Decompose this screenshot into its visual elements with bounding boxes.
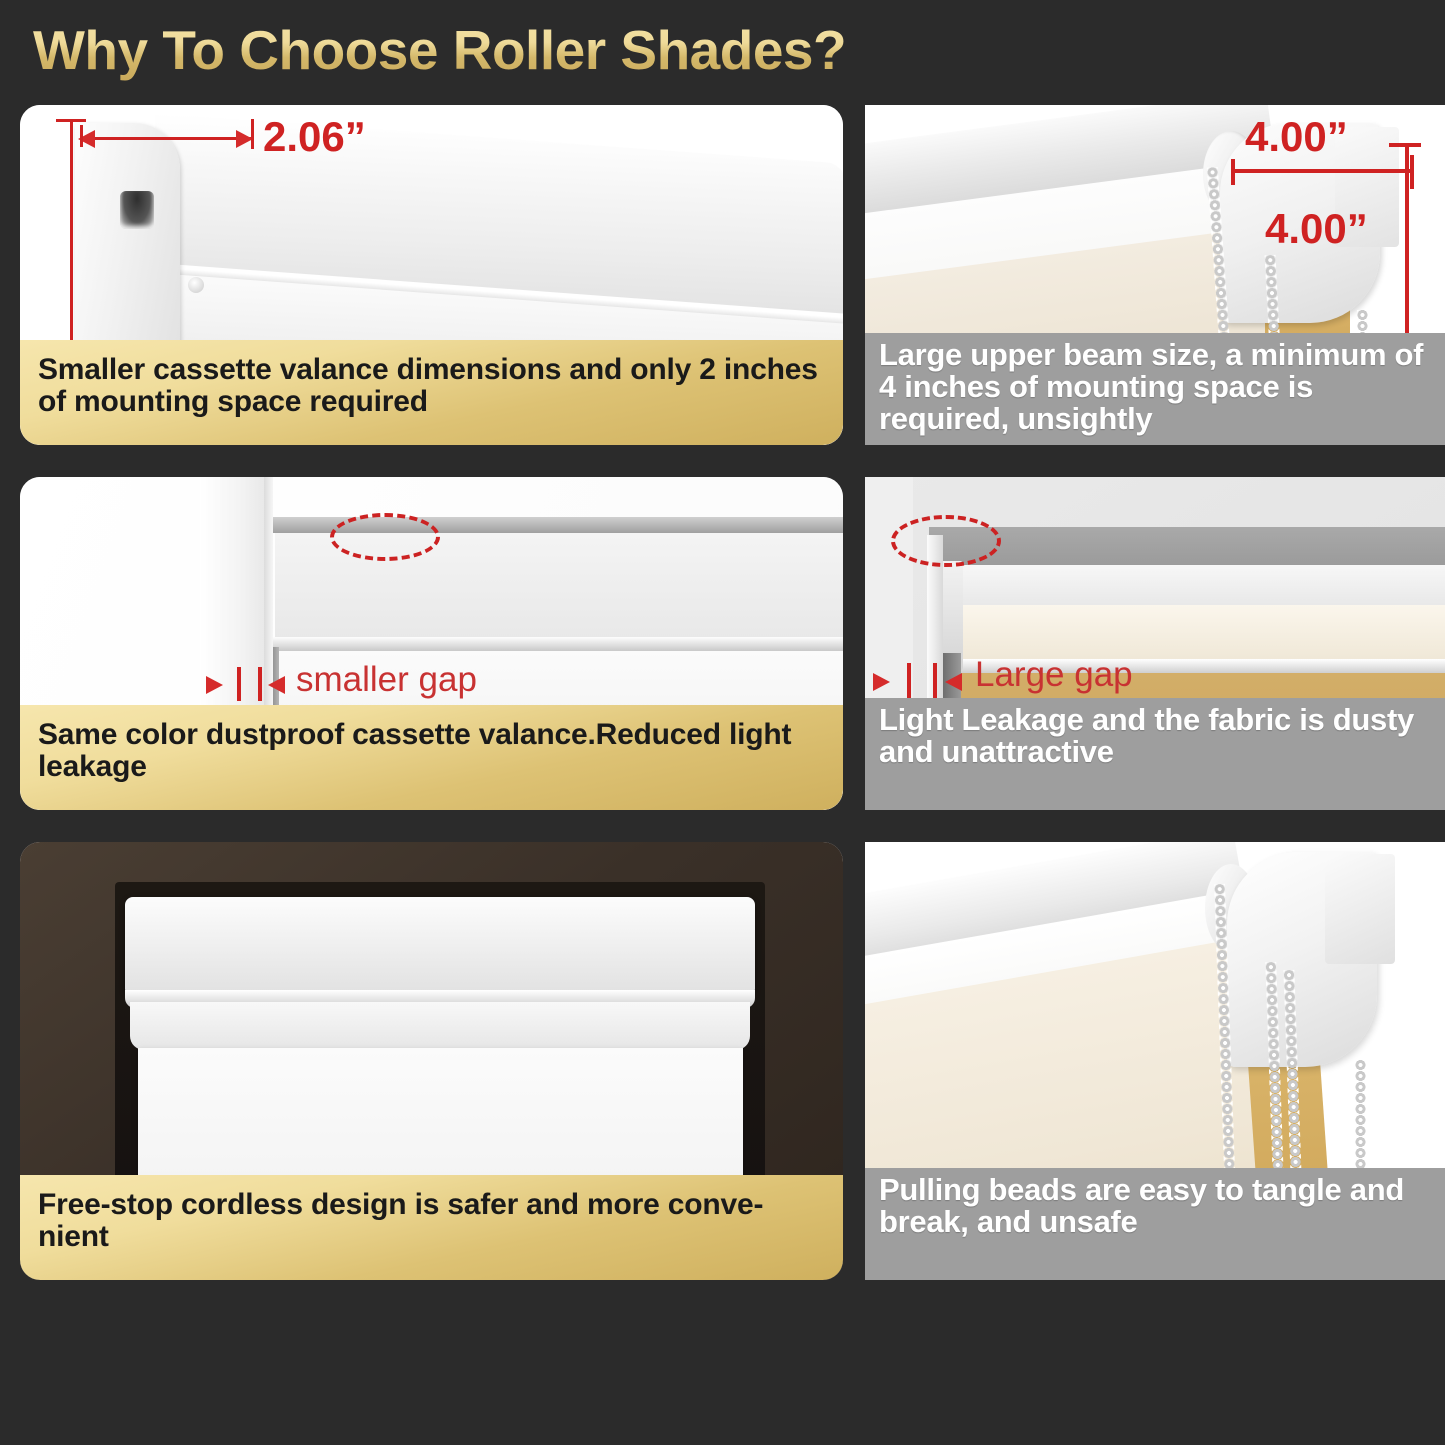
beam-width-dim-line <box>1233 169 1413 173</box>
caption-text: Smaller cassette valance dimensions and … <box>38 354 825 418</box>
cell-smaller-gap: smaller gap Same color dustproof cassett… <box>20 477 843 810</box>
gap-arrow-left <box>206 676 223 694</box>
width-dimension-label: 2.06” <box>263 113 366 161</box>
caption-bar-cordless-design: Free-stop cordless design is safer and m… <box>20 1175 843 1280</box>
beam-width-tick-right <box>1410 155 1414 189</box>
upper-beam-shadow <box>929 527 1445 565</box>
width-dim-line <box>82 137 252 140</box>
caption-bar-large-upper-beam: Large upper beam size, a minimum of 4 in… <box>865 333 1445 445</box>
gap-label: Large gap <box>975 655 1133 695</box>
gap-tick-right <box>258 667 262 701</box>
caption-text: Same color dustproof cassette valance.Re… <box>38 719 825 783</box>
caption-text: Free-stop cordless design is safer and m… <box>38 1189 825 1253</box>
beam-height-label: 4.00” <box>1265 205 1368 253</box>
page-title: Why To Choose Roller Shades? <box>33 18 1445 82</box>
caption-bar-large-gap: Light Leakage and the fabric is dusty an… <box>865 698 1445 810</box>
gap-tick-right <box>933 663 937 699</box>
beam-width-tick-left <box>1231 159 1235 185</box>
beam-width-label: 4.00” <box>1245 113 1348 161</box>
caption-text: Large upper beam size, a minimum of 4 in… <box>879 339 1431 436</box>
width-dim-tick-right <box>251 119 254 149</box>
gap-tick-left <box>237 667 241 701</box>
gap-arrow-left <box>873 673 890 691</box>
shade-mid-rail <box>272 637 843 651</box>
cell-large-gap: Large gap Light Leakage and the fabric i… <box>865 477 1445 810</box>
gap-tick-left <box>907 663 911 699</box>
width-dim-tick-left <box>80 125 83 147</box>
end-cap-slot <box>120 191 154 229</box>
gap-arrow-right <box>945 673 962 691</box>
cell-cordless-design: Free-stop cordless design is safer and m… <box>20 842 843 1280</box>
gap-label: smaller gap <box>296 660 477 700</box>
bracket-mount-ear <box>1325 854 1395 964</box>
cell-pulling-beads: Pulling beads are easy to tangle and bre… <box>865 842 1445 1280</box>
valance-end-cap <box>75 123 180 353</box>
highlight-ellipse-icon <box>891 515 1001 567</box>
caption-bar-pulling-beads: Pulling beads are easy to tangle and bre… <box>865 1168 1445 1280</box>
beam-height-tick-top <box>1389 143 1421 147</box>
end-cap-screw-upper <box>188 277 204 293</box>
caption-text: Light Leakage and the fabric is dusty an… <box>879 704 1431 768</box>
title-bar: Why To Choose Roller Shades? <box>0 0 1445 105</box>
highlight-ellipse-icon <box>330 513 440 561</box>
cassette-roll <box>130 1002 750 1050</box>
cassette-valance <box>125 897 755 992</box>
caption-bar-smaller-cassette: Smaller cassette valance dimensions and … <box>20 340 843 445</box>
caption-bar-smaller-gap: Same color dustproof cassette valance.Re… <box>20 705 843 810</box>
cell-large-upper-beam: 4.00” 4.00” Large upper beam size, a min… <box>865 105 1445 445</box>
comparison-grid: 2.06” 5.49” Smaller cassette valance dim… <box>0 105 1445 1445</box>
gap-arrow-right <box>268 676 285 694</box>
height-dim-tick-top <box>56 119 86 122</box>
cell-smaller-cassette: 2.06” 5.49” Smaller cassette valance dim… <box>20 105 843 445</box>
caption-text: Pulling beads are easy to tangle and bre… <box>879 1174 1431 1238</box>
